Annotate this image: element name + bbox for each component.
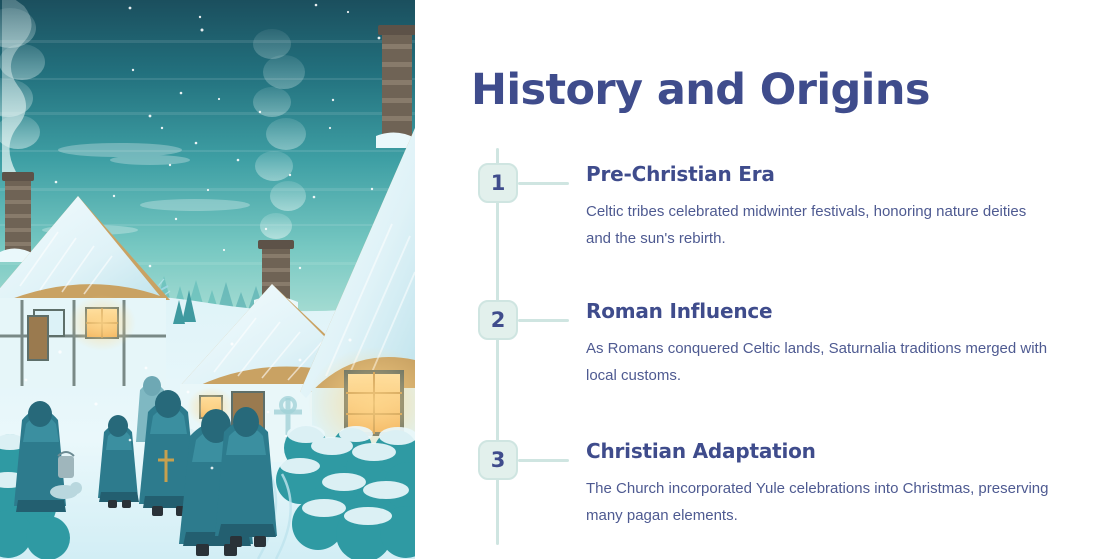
timeline-item-body-3: The Church incorporated Yule celebration… — [586, 475, 1052, 529]
timeline-item-body-2: As Romans conquered Celtic lands, Saturn… — [586, 335, 1052, 389]
timeline-step-badge-3: 3 — [478, 440, 518, 480]
timeline-item-body-1: Celtic tribes celebrated midwinter festi… — [586, 198, 1052, 252]
winter-village-night-illustration — [0, 0, 415, 559]
timeline-item-text: Pre-Christian Era Celtic tribes celebrat… — [586, 161, 1056, 252]
timeline-item-text: Roman Influence As Romans conquered Celt… — [586, 298, 1056, 389]
timeline-item-text: Christian Adaptation The Church incorpor… — [586, 438, 1056, 529]
timeline-spine — [496, 148, 499, 545]
content-panel: History and Origins 1 Pre-Christian Era … — [415, 0, 1100, 559]
timeline-connector-3 — [518, 459, 569, 462]
timeline-connector-2 — [518, 319, 569, 322]
slide-root: History and Origins 1 Pre-Christian Era … — [0, 0, 1100, 559]
timeline-step-badge-1: 1 — [478, 163, 518, 203]
timeline-item-heading-3: Christian Adaptation — [586, 438, 1056, 464]
timeline-item-heading-1: Pre-Christian Era — [586, 161, 1056, 187]
timeline-connector-1 — [518, 182, 569, 185]
timeline: 1 Pre-Christian Era Celtic tribes celebr… — [415, 0, 1100, 559]
timeline-step-badge-2: 2 — [478, 300, 518, 340]
timeline-item-heading-2: Roman Influence — [586, 298, 1056, 324]
